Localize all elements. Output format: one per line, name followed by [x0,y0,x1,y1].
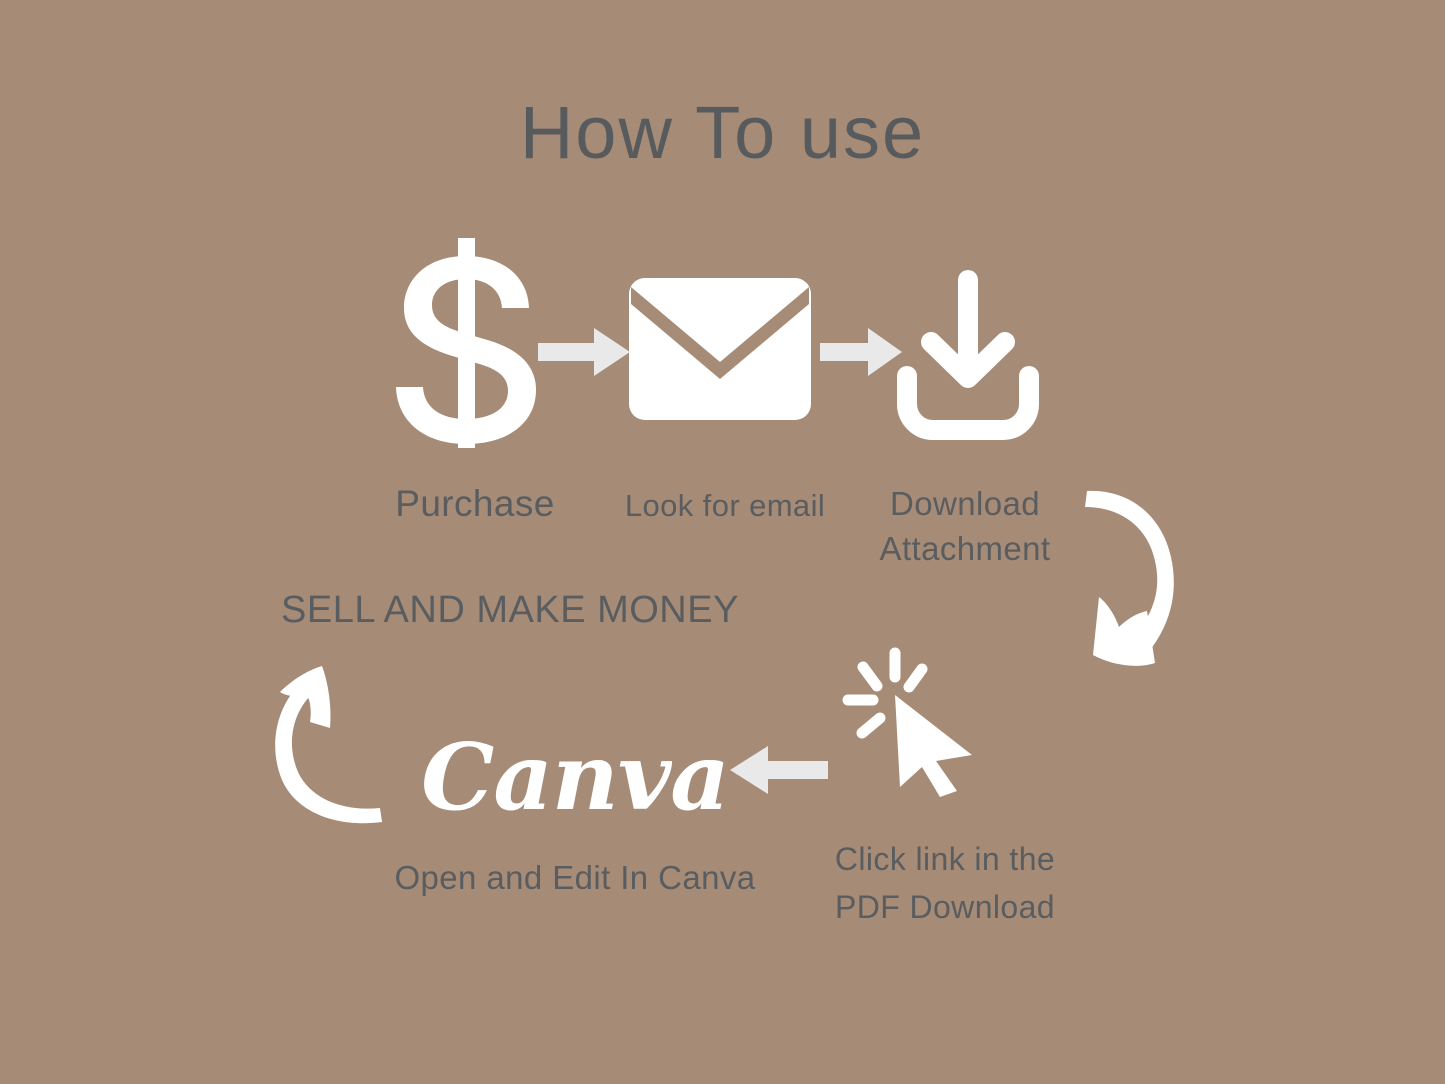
dollar-sign-icon [396,238,536,448]
arrow-left-icon [730,744,828,796]
step-label-open-and-edit-in-canva: Open and Edit In Canva [330,858,820,898]
canva-logo: Canva [420,722,730,832]
step-label-download-attachment: Download Attachment [840,482,1090,571]
arrow-right-icon [538,326,630,378]
envelope-icon [629,278,811,420]
step-label-look-for-email: Look for email [590,487,860,524]
step-label-click-link-pdf: Click link in the PDF Download [800,835,1090,931]
curved-arrow-down-icon [1075,485,1200,670]
step-label-purchase: Purchase [330,482,620,526]
download-icon [893,268,1043,443]
click-cursor-icon [836,645,984,797]
step-label-sell-and-make-money: SELL AND MAKE MONEY [180,588,840,634]
arrow-right-icon [820,326,902,378]
infographic-canvas: How To use [0,0,1445,1084]
curved-arrow-up-left-icon [258,658,398,833]
page-title: How To use [0,96,1445,170]
